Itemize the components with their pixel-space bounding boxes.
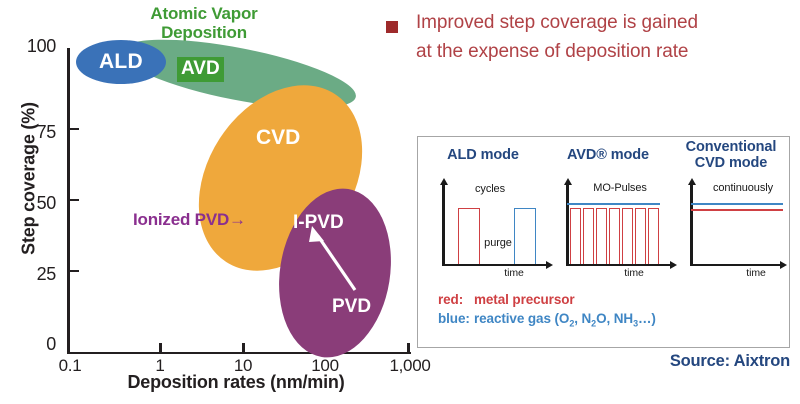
region-avd-label: AVD <box>181 58 220 79</box>
x-tick-10 <box>242 343 245 353</box>
avd-red-pulse <box>609 208 620 264</box>
y-tick-label-25: 25 <box>8 264 56 285</box>
region-avd-label-box: AVD <box>177 57 224 82</box>
cvd-caption: continuously <box>700 182 786 194</box>
bullet-line2: at the expense of deposition rate <box>416 41 688 62</box>
ald-x-arrowhead-icon <box>546 261 553 269</box>
legend-red-text: metal precursor <box>474 292 575 307</box>
step-coverage-chart: Step coverage (%) 100 75 50 25 0 0.1 1 1… <box>0 0 415 404</box>
mode-title-cvd-line1: Conventional <box>686 139 777 155</box>
legend-blue-text-a: reactive gas (O <box>474 311 569 326</box>
ald-time-label: time <box>494 267 534 279</box>
y-tick-25 <box>70 270 79 272</box>
bullet-square-icon <box>386 21 398 33</box>
legend-blue-text-d: …) <box>638 311 656 326</box>
source-label: Source: Aixtron <box>600 352 790 371</box>
deposition-modes-inset: ALD mode AVD® mode Conventional CVD mode… <box>417 136 790 348</box>
avd-red-pulse <box>570 208 581 264</box>
avd-title-line1: Atomic Vapor <box>150 4 257 23</box>
avd-y-axis <box>566 184 569 266</box>
cvd-x-axis <box>690 264 782 267</box>
avd-red-pulse <box>583 208 594 264</box>
y-tick-50 <box>70 199 79 201</box>
y-tick-label-75: 75 <box>8 122 56 143</box>
ald-purge-label: purge <box>482 237 514 249</box>
region-ald[interactable]: ALD <box>76 40 166 84</box>
avd-x-arrowhead-icon <box>670 261 677 269</box>
avd-red-pulse <box>596 208 607 264</box>
y-tick-label-0: 0 <box>8 334 56 355</box>
avd-red-pulse <box>635 208 646 264</box>
ald-red-pulse <box>458 208 480 264</box>
y-axis-title: Step coverage (%) <box>19 64 40 294</box>
cvd-y-axis <box>690 184 693 266</box>
ald-caption: cycles <box>460 183 520 195</box>
legend-blue-text-b: , N <box>574 311 591 326</box>
avd-red-pulse <box>622 208 633 264</box>
slide-root: Step coverage (%) 100 75 50 25 0 0.1 1 1… <box>0 0 800 404</box>
cvd-time-label: time <box>736 267 776 279</box>
ald-blue-pulse <box>514 208 536 264</box>
mode-title-ald: ALD mode <box>428 147 538 163</box>
legend-blue-key: blue: <box>438 311 474 326</box>
mini-plot-cvd: continuously time <box>680 175 788 275</box>
legend-red-key: red: <box>438 292 474 307</box>
mode-title-cvd: Conventional CVD mode <box>676 139 786 171</box>
y-tick-label-50: 50 <box>8 193 56 214</box>
region-cvd-label: CVD <box>256 126 300 150</box>
avd-red-pulse <box>648 208 659 264</box>
avd-blue-line <box>567 203 660 205</box>
x-tick-1000 <box>407 343 410 353</box>
bullet-text: Improved step coverage is gained at the … <box>416 8 791 66</box>
ald-y-axis <box>442 184 445 266</box>
cvd-red-line <box>691 209 783 211</box>
y-axis-line <box>67 48 70 354</box>
cvd-x-arrowhead-icon <box>780 261 787 269</box>
y-tick-75 <box>70 128 79 130</box>
avd-time-label: time <box>614 267 654 279</box>
legend-blue-text-c: O, NH <box>596 311 633 326</box>
ionized-pvd-annotation: Ionized PVD→ <box>133 210 246 230</box>
avd-title: Atomic Vapor Deposition <box>118 4 290 42</box>
y-tick-label-100: 100 <box>8 36 56 57</box>
x-tick-1 <box>159 343 162 353</box>
cvd-blue-line <box>691 203 783 205</box>
mini-plot-avd: MO-Pulses time <box>556 175 676 275</box>
mode-title-cvd-line2: CVD mode <box>695 155 768 171</box>
x-axis-line <box>67 352 411 355</box>
pvd-to-ipvd-arrow <box>300 222 380 302</box>
x-axis-title: Deposition rates (nm/min) <box>60 372 412 393</box>
mode-title-ald-line1: ALD mode <box>447 147 519 163</box>
inset-legend-red: red:metal precursor <box>438 292 575 307</box>
mode-title-avd-line1: AVD® mode <box>567 147 649 163</box>
avd-caption: MO-Pulses <box>582 182 658 194</box>
inset-legend-blue: blue:reactive gas (O2, N2O, NH3…) <box>438 311 656 329</box>
mini-plot-ald: cycles purge time <box>432 175 552 275</box>
mode-title-avd: AVD® mode <box>553 147 663 163</box>
bullet-line1: Improved step coverage is gained <box>416 12 698 33</box>
region-ald-label: ALD <box>99 50 143 74</box>
